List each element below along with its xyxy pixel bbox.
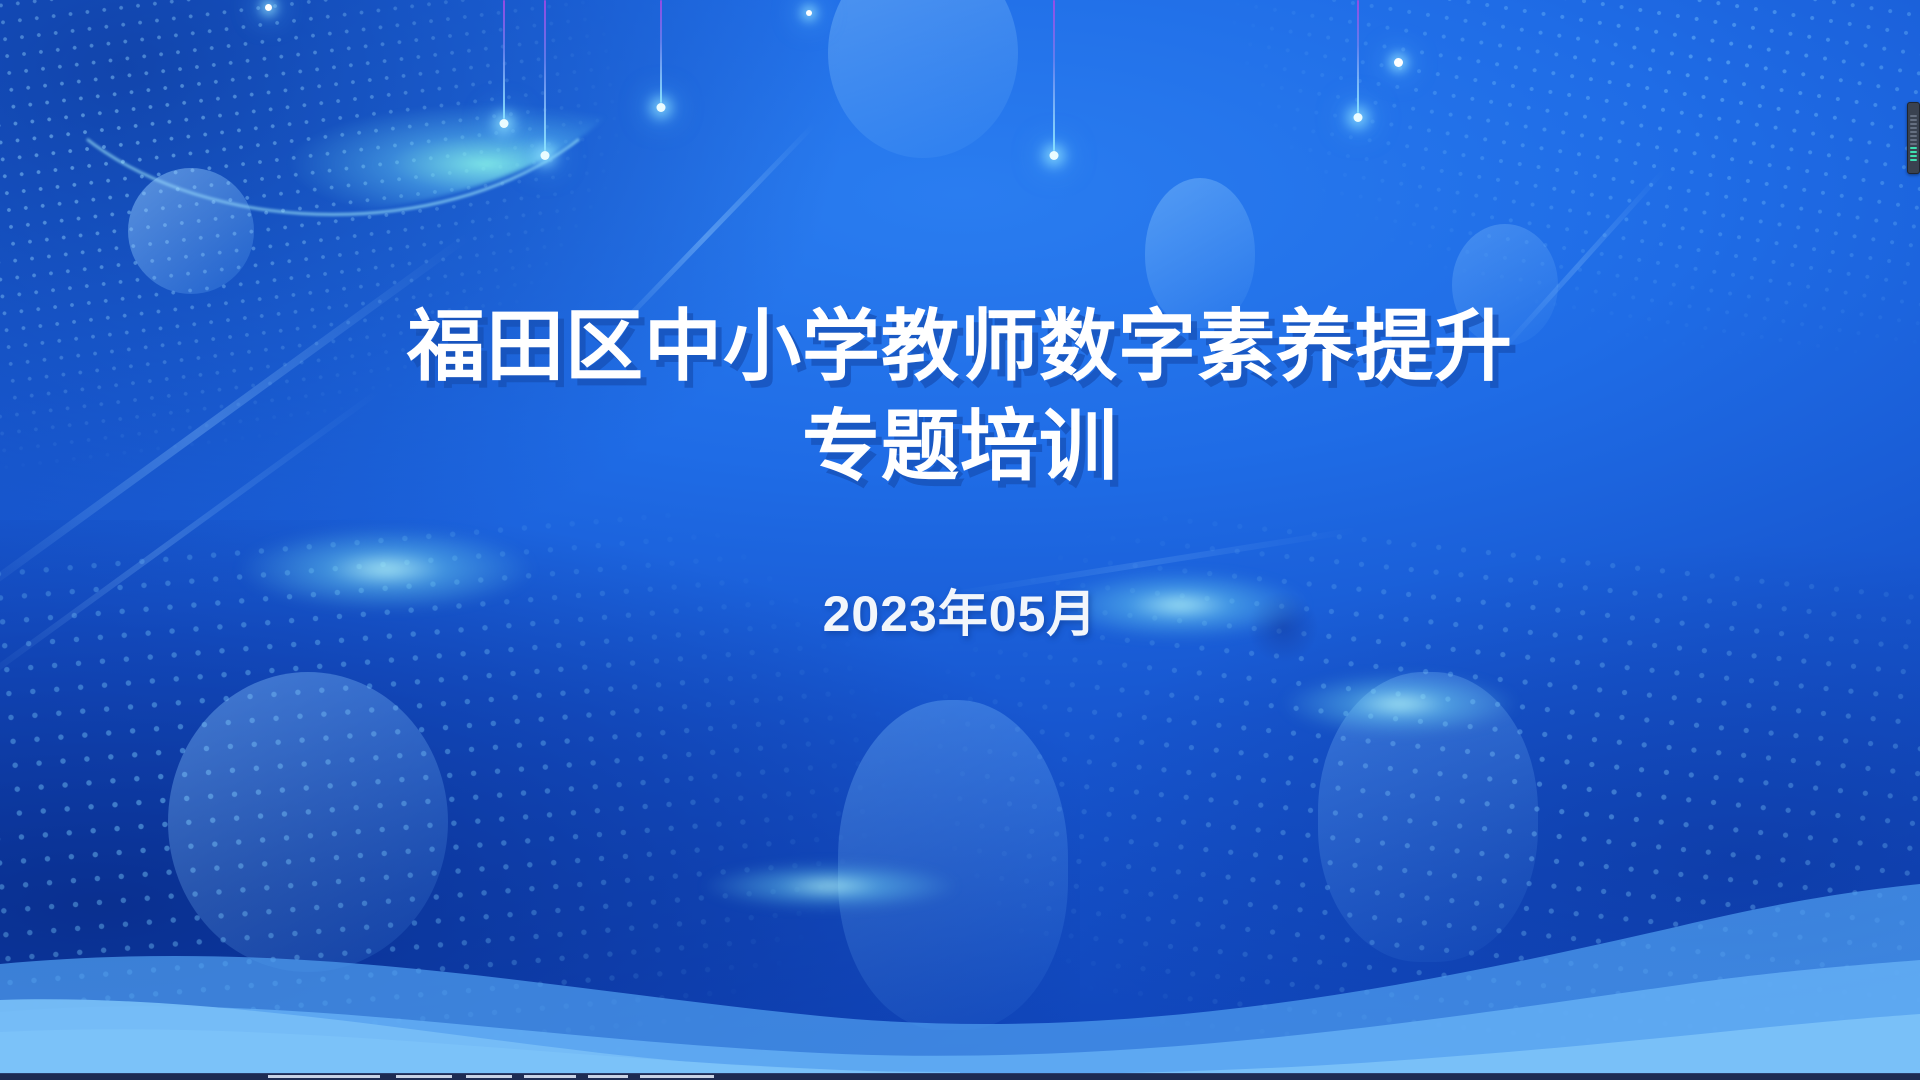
indicator-bar [1910, 119, 1917, 121]
circle-blob-f [838, 700, 1068, 1030]
progress-segment [466, 1075, 512, 1078]
drop-head [500, 119, 509, 128]
title-block: 福田区中小学教师数字素养提升 专题培训 [0, 296, 1920, 496]
drop-tail [503, 0, 505, 119]
drop-head [657, 103, 666, 112]
indicator-bar [1910, 115, 1917, 117]
drop-head [1354, 113, 1363, 122]
wave-front [0, 1014, 1920, 1080]
indicator-bar [1910, 131, 1917, 133]
light-drop-4-icon [1045, 0, 1063, 160]
swoosh-arc-line-icon [10, 0, 656, 216]
drop-head [541, 151, 550, 160]
circle-blob-a [128, 168, 254, 294]
slide-progress-strip[interactable] [0, 1073, 1920, 1080]
flare-low-icon [700, 862, 960, 910]
indicator-bar [1910, 139, 1917, 141]
spark-3-icon [265, 4, 272, 11]
circle-blob-b [828, 0, 1018, 158]
swoosh-arc-glow-icon [40, 0, 660, 214]
progress-segment [588, 1075, 628, 1078]
flare-right-icon [1280, 672, 1520, 736]
drop-head [1050, 151, 1059, 160]
spark-2-icon [1394, 58, 1403, 67]
drop-tail [1357, 0, 1359, 113]
indicator-bar [1910, 143, 1917, 145]
light-drop-3-icon [652, 0, 670, 112]
light-drop-1-icon [495, 0, 513, 128]
progress-segment [396, 1075, 452, 1078]
page-title-line-1: 福田区中小学教师数字素养提升 [0, 296, 1920, 396]
progress-segment [640, 1075, 714, 1078]
drop-tail [660, 0, 662, 103]
drop-tail [544, 0, 546, 151]
drop-tail [1053, 0, 1055, 151]
wave-front-left [0, 999, 960, 1080]
wave-mid [0, 960, 1920, 1080]
indicator-bar [1910, 123, 1917, 125]
wave-back [0, 884, 1920, 1080]
bottom-waves [0, 750, 1920, 1080]
light-drop-2-icon [536, 0, 554, 160]
dot-field-bottom-right-icon [826, 476, 1920, 1080]
spark-1-icon [806, 10, 812, 16]
light-drop-5-icon [1349, 0, 1367, 122]
indicator-bar [1910, 147, 1917, 149]
slide-date: 2023年05月 [0, 584, 1920, 644]
indicator-bar [1910, 127, 1917, 129]
level-indicator-widget[interactable] [1907, 102, 1920, 174]
indicator-bar [1910, 155, 1917, 157]
indicator-bar [1910, 135, 1917, 137]
page-title-line-2: 专题培训 [0, 396, 1920, 496]
progress-segment [524, 1075, 576, 1078]
presentation-slide: 福田区中小学教师数字素养提升 专题培训 2023年05月 [0, 0, 1920, 1080]
indicator-bar [1910, 159, 1917, 161]
circle-blob-g [1318, 672, 1538, 962]
indicator-bar [1910, 151, 1917, 153]
dot-field-bottom-left-icon [0, 464, 1162, 1080]
progress-segment [268, 1075, 380, 1078]
circle-blob-e [168, 672, 448, 972]
